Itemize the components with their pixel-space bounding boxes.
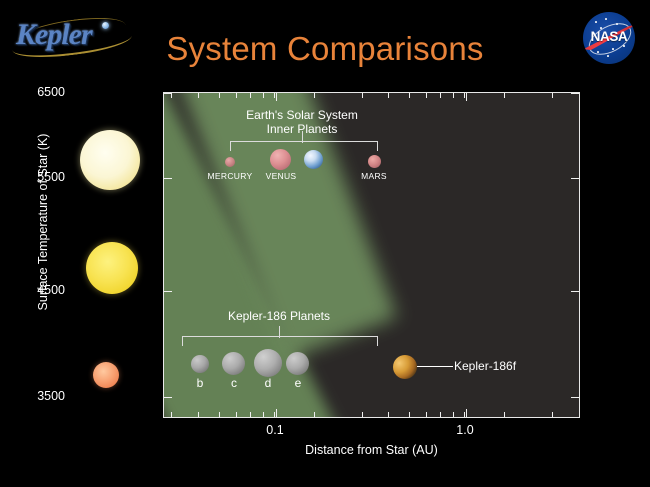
planet-label-kepler186e: e [278,376,318,390]
star-g-type [80,130,140,190]
planet-label-mars: MARS [342,171,406,181]
x-tick-label-1.0: 1.0 [442,423,488,437]
x-tick-label-0.1: 0.1 [252,423,298,437]
planet-venus [270,149,291,170]
slide-canvas: Kepler NASA System Comparisons Surface T… [0,0,650,487]
y-tick-label-4500: 4500 [37,283,65,297]
kepler-planet-dot-icon [102,22,109,29]
inner-planets-title-line1: Earth's Solar System [242,108,362,122]
kepler186f-callout-label: Kepler-186f [454,359,544,373]
kepler186f-leader-line [417,366,453,367]
planet-earth [304,150,323,169]
planet-kepler186e [286,352,309,375]
inner-planets-bracket [230,141,378,151]
y-tick-label-5500: 5500 [37,170,65,184]
inner-planets-title-line2: Inner Planets [242,122,362,136]
planet-kepler186c [222,352,245,375]
x-axis-label: Distance from Star (AU) [163,443,580,457]
planet-kepler186b [191,355,209,373]
y-tick-label-6500: 6500 [37,85,65,99]
planet-label-venus: VENUS [249,171,313,181]
page-title: System Comparisons [0,30,650,68]
chart-plot-area: Earth's Solar System Inner Planets MERCU… [163,92,580,418]
planet-mars [368,155,381,168]
y-axis-label: Surface Temperature of Star (K) [36,87,50,357]
y-tick-label-3500: 3500 [37,389,65,403]
star-k-type [86,242,138,294]
planet-mercury [225,157,235,167]
kepler186-bracket-stem [279,326,280,338]
planet-kepler186d [254,349,282,377]
star-m-type [93,362,119,388]
kepler186-group-title: Kepler-186 Planets [214,309,344,323]
planet-kepler186f [393,355,417,379]
